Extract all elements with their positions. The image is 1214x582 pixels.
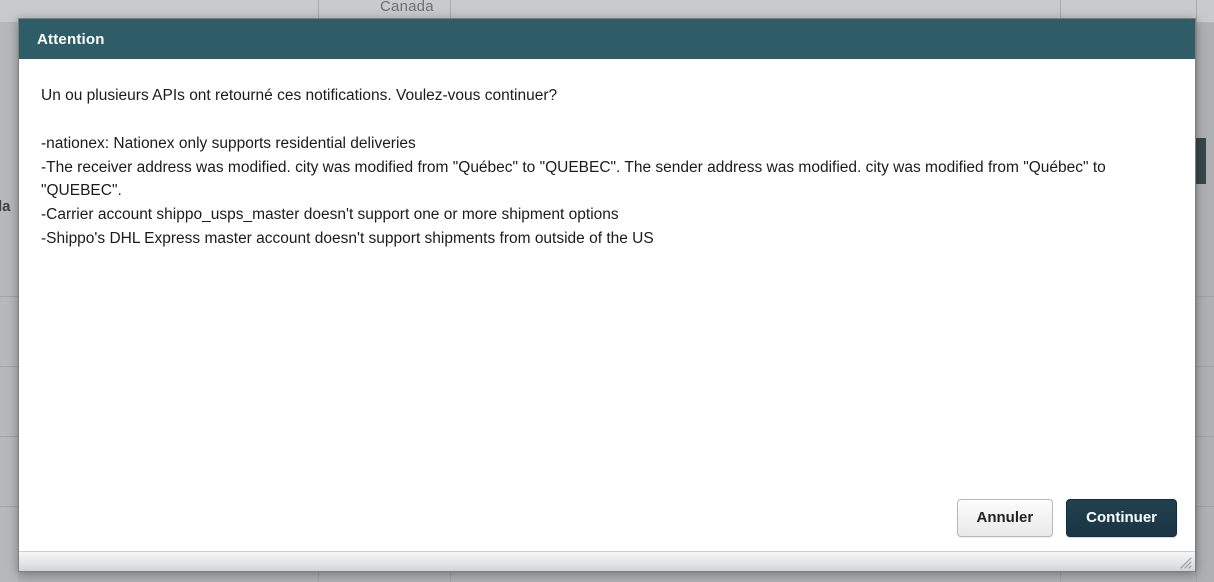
notification-item: -The receiver address was modified. city… xyxy=(41,157,1171,203)
continue-button[interactable]: Continuer xyxy=(1066,499,1177,537)
attention-dialog: Attention Un ou plusieurs APIs ont retou… xyxy=(18,18,1196,572)
dialog-body: Un ou plusieurs APIs ont retourné ces no… xyxy=(19,59,1195,499)
notification-item: -Carrier account shippo_usps_master does… xyxy=(41,204,1171,227)
notification-item: -Shippo's DHL Express master account doe… xyxy=(41,228,1171,251)
cancel-button[interactable]: Annuler xyxy=(957,499,1054,537)
dialog-title: Attention xyxy=(37,31,105,48)
dialog-header: Attention xyxy=(19,19,1195,59)
background-column-separator xyxy=(1196,0,1197,582)
background-table-header-label: Canada xyxy=(380,0,434,15)
dialog-status-bar xyxy=(19,551,1195,571)
notification-list: -nationex: Nationex only supports reside… xyxy=(41,133,1171,250)
dialog-action-bar: Annuler Continuer xyxy=(19,499,1195,551)
resize-grip-icon[interactable] xyxy=(1178,555,1192,569)
notification-item: -nationex: Nationex only supports reside… xyxy=(41,133,1171,156)
dialog-intro-text: Un ou plusieurs APIs ont retourné ces no… xyxy=(41,85,1171,107)
background-left-panel xyxy=(0,22,18,582)
background-row-label: la xyxy=(0,198,11,215)
